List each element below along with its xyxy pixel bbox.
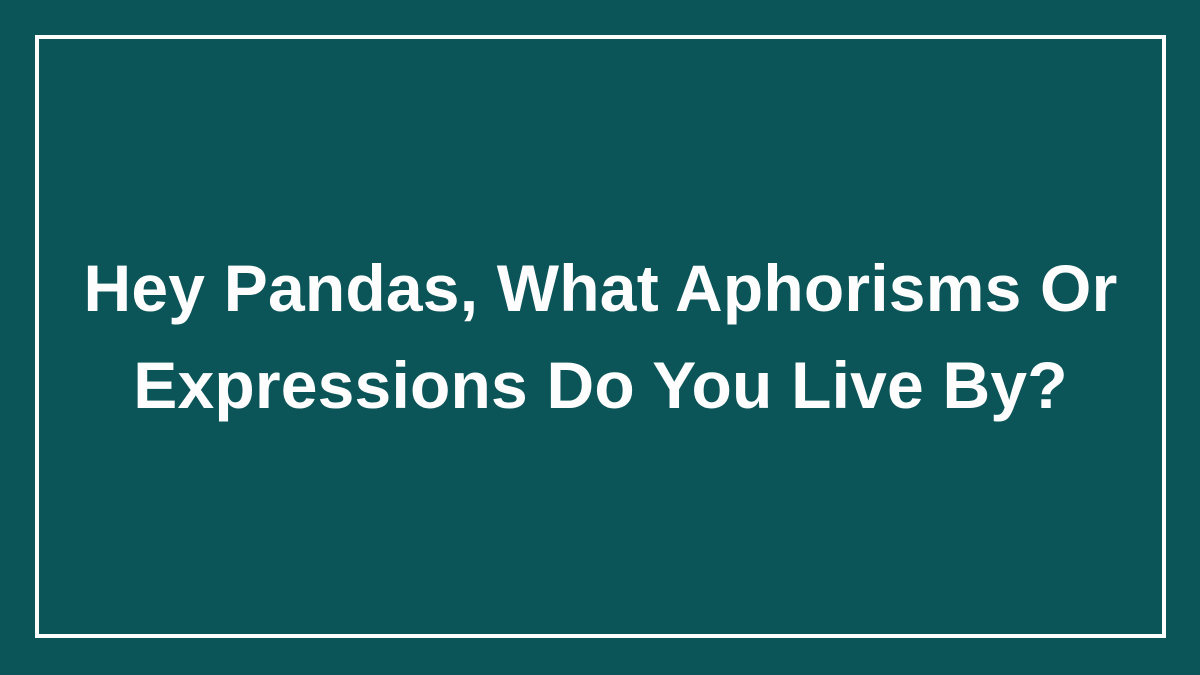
- page-title: Hey Pandas, What Aphorisms Or Expression…: [84, 240, 1118, 434]
- poster-canvas: Hey Pandas, What Aphorisms Or Expression…: [0, 0, 1200, 675]
- headline-container: Hey Pandas, What Aphorisms Or Expression…: [35, 35, 1166, 638]
